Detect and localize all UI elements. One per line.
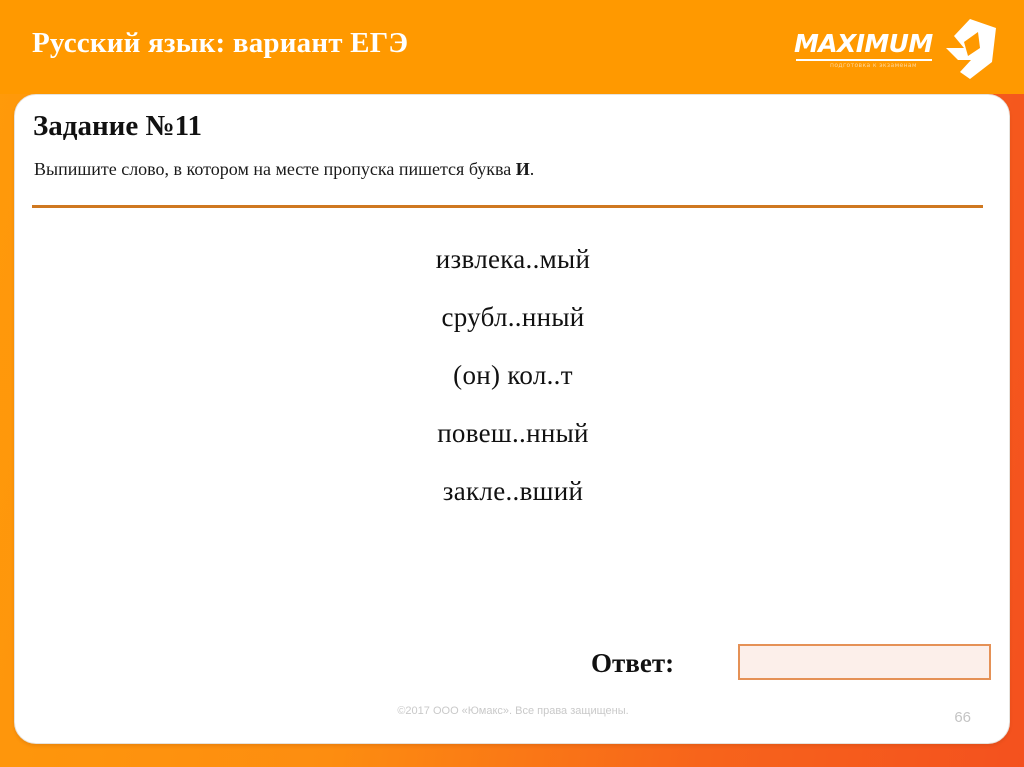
task-prompt-prefix: Выпишите слово, в котором на месте пропу… bbox=[34, 159, 516, 179]
answer-box[interactable] bbox=[738, 644, 991, 680]
task-prompt: Выпишите слово, в котором на месте пропу… bbox=[34, 157, 534, 181]
answer-input[interactable] bbox=[740, 646, 989, 678]
word-option[interactable]: закле..вший bbox=[15, 462, 1011, 520]
logo-tagline: подготовка к экзаменам bbox=[830, 62, 917, 70]
section-divider bbox=[32, 205, 983, 208]
page-number: 66 bbox=[954, 709, 971, 727]
word-option[interactable]: извлека..мый bbox=[15, 230, 1011, 288]
answer-row: Ответ: bbox=[591, 644, 991, 684]
slide: Русский язык: вариант ЕГЭ MAXIMUM подгот… bbox=[0, 0, 1024, 767]
page-title: Русский язык: вариант ЕГЭ bbox=[32, 25, 408, 61]
task-title: Задание №11 bbox=[33, 109, 202, 143]
logo-underline bbox=[796, 59, 932, 61]
answer-label: Ответ: bbox=[591, 647, 674, 679]
slide-header: Русский язык: вариант ЕГЭ MAXIMUM подгот… bbox=[0, 0, 1024, 94]
word-option[interactable]: срубл..нный bbox=[15, 288, 1011, 346]
word-option-list: извлека..мый срубл..нный (он) кол..т пов… bbox=[15, 230, 1011, 520]
logo-wordmark: MAXIMUM bbox=[794, 31, 933, 57]
copyright-notice: ©2017 ООО «Юмакс». Все права защищены. bbox=[15, 704, 1011, 718]
content-card: Задание №11 Выпишите слово, в котором на… bbox=[14, 94, 1010, 744]
task-prompt-suffix: . bbox=[530, 159, 535, 179]
word-option[interactable]: (он) кол..т bbox=[15, 346, 1011, 404]
word-option[interactable]: повеш..нный bbox=[15, 404, 1011, 462]
maximum-logo: MAXIMUM подготовка к экзаменам bbox=[786, 18, 998, 80]
task-prompt-letter: И bbox=[516, 159, 530, 179]
logo-shield-icon bbox=[940, 18, 998, 80]
